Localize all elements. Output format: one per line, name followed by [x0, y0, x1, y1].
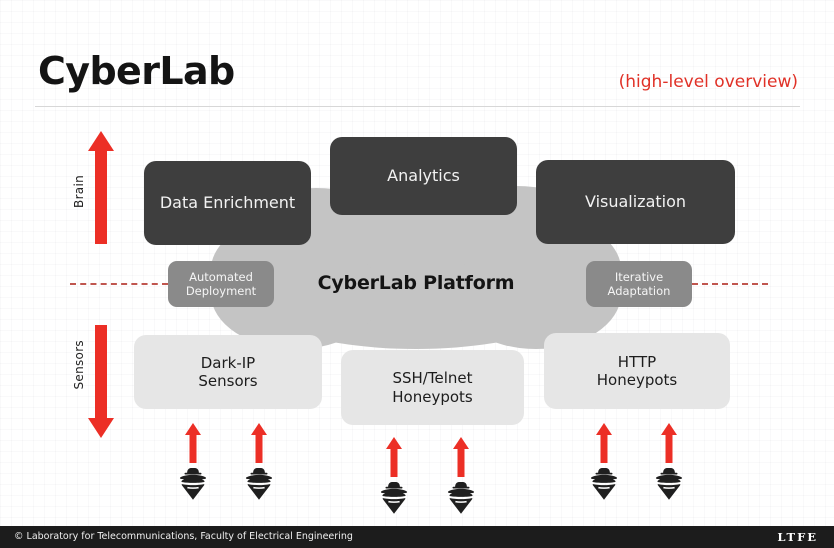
page-subtitle: (high-level overview) — [619, 74, 798, 91]
page-title: CyberLab — [38, 52, 235, 90]
slide-header: CyberLab (high-level overview) — [0, 0, 834, 108]
footer-copyright: © Laboratory for Telecommunications, Fac… — [14, 531, 353, 542]
attack-arrow-icon-3 — [386, 437, 402, 477]
node-label-line2: Deployment — [186, 284, 256, 298]
node-label-line1: HTTP — [618, 353, 656, 371]
header-divider — [35, 106, 800, 107]
node-iterative-adaptation[interactable]: Iterative Adaptation — [586, 261, 692, 307]
node-dark-ip-sensors[interactable]: Dark-IP Sensors — [134, 335, 322, 409]
node-label-line2: Adaptation — [608, 284, 671, 298]
node-label: Visualization — [585, 192, 686, 212]
slide-canvas: CyberLab (high-level overview) Brain Sen… — [0, 0, 834, 548]
node-label-line1: Iterative — [615, 270, 663, 284]
attack-arrow-icon-6 — [661, 423, 677, 463]
slide-footer: © Laboratory for Telecommunications, Fac… — [0, 526, 834, 548]
red-down-arrow-icon — [88, 325, 114, 438]
node-label: Data Enrichment — [160, 193, 295, 213]
node-label: Analytics — [387, 166, 460, 186]
node-label-line2: Sensors — [198, 372, 257, 390]
ltfe-logo: LTFE — [777, 530, 818, 544]
node-label-line1: Dark-IP — [201, 354, 255, 372]
hacker-spy-icon-4 — [446, 482, 476, 514]
node-automated-deployment[interactable]: Automated Deployment — [168, 261, 274, 307]
node-label-line2: Honeypots — [597, 371, 677, 389]
hacker-spy-icon-1 — [178, 468, 208, 500]
axis-label-brain: Brain — [72, 175, 86, 208]
node-label-line1: SSH/Telnet — [392, 369, 472, 387]
attack-arrow-icon-1 — [185, 423, 201, 463]
hacker-spy-icon-5 — [589, 468, 619, 500]
attack-arrow-icon-2 — [251, 423, 267, 463]
red-up-arrow-icon — [88, 131, 114, 244]
node-analytics[interactable]: Analytics — [330, 137, 517, 215]
divider-dashed-left — [70, 283, 168, 285]
hacker-spy-icon-2 — [244, 468, 274, 500]
divider-dashed-right — [692, 283, 768, 285]
hacker-spy-icon-3 — [379, 482, 409, 514]
node-data-enrichment[interactable]: Data Enrichment — [144, 161, 311, 245]
node-label-line2: Honeypots — [392, 388, 472, 406]
attack-arrow-icon-4 — [453, 437, 469, 477]
attack-arrow-icon-5 — [596, 423, 612, 463]
hacker-spy-icon-6 — [654, 468, 684, 500]
node-http-honeypots[interactable]: HTTP Honeypots — [544, 333, 730, 409]
node-label-line1: Automated — [189, 270, 253, 284]
axis-label-sensors: Sensors — [72, 340, 86, 390]
node-ssh-telnet-honeypots[interactable]: SSH/Telnet Honeypots — [341, 350, 524, 425]
node-visualization[interactable]: Visualization — [536, 160, 735, 244]
